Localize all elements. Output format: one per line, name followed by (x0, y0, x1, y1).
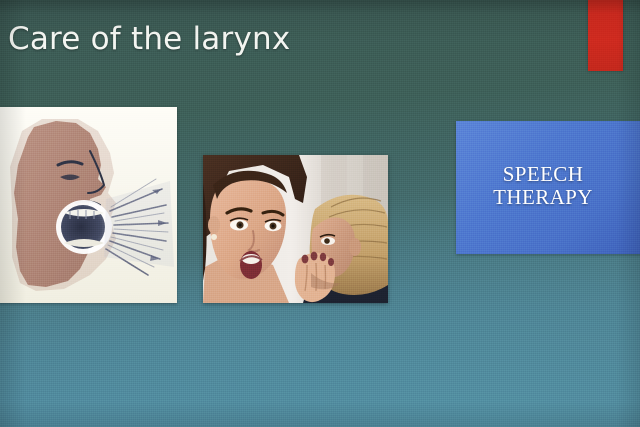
speech-therapy-label: SPEECH THERAPY (493, 163, 593, 208)
presentation-slide: Care of the larynx (0, 0, 640, 427)
larynx-illustration-image (0, 107, 177, 303)
larynx-illustration-graphic (0, 107, 177, 303)
speech-therapy-line1: SPEECH (493, 163, 593, 185)
slide-title: Care of the larynx (8, 21, 290, 57)
speech-therapy-line2: THERAPY (493, 186, 593, 208)
whispering-photo (203, 155, 388, 303)
whispering-photo-graphic (203, 155, 388, 303)
red-accent-block (588, 0, 623, 71)
speech-therapy-panel: SPEECH THERAPY (456, 121, 640, 254)
